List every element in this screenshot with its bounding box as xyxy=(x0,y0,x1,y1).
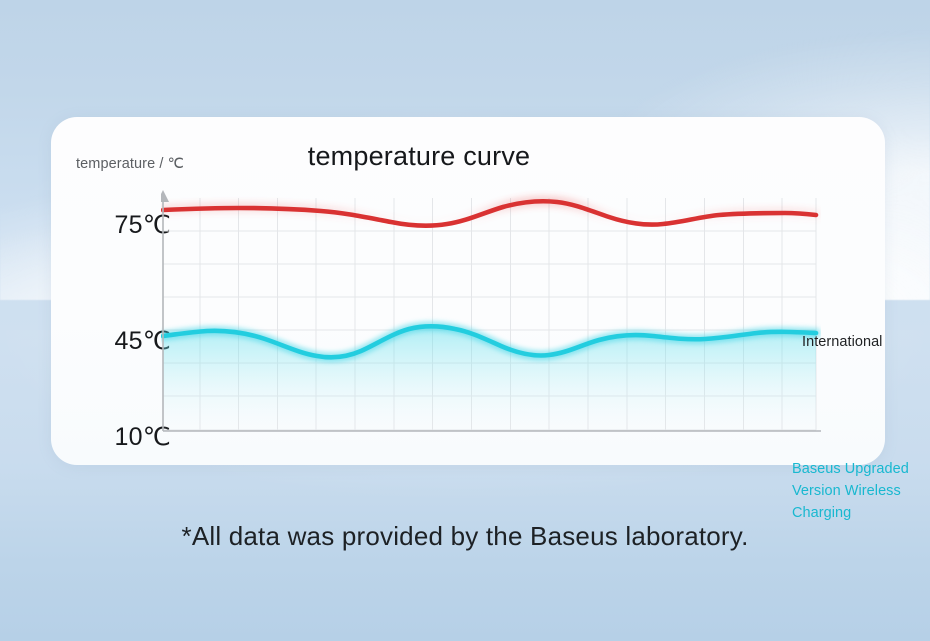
legend-label-international: International xyxy=(802,332,882,354)
footer-caption: *All data was provided by the Baseus lab… xyxy=(0,521,930,552)
chart-title: temperature curve xyxy=(51,141,885,172)
chart-plot-area xyxy=(161,190,821,455)
y-tick-label-75: 75℃ xyxy=(71,210,171,240)
chart-title-text: temperature curve xyxy=(308,141,531,172)
y-axis-tick-labels: 75℃ 45℃ 10℃ xyxy=(61,117,171,465)
page-root: temperature / ℃ temperature curve 75℃ 45… xyxy=(0,0,930,641)
y-tick-label-10: 10℃ xyxy=(71,422,171,452)
chart-card: temperature / ℃ temperature curve 75℃ 45… xyxy=(51,117,885,465)
legend-label-baseus: Baseus Upgraded Version Wireless Chargin… xyxy=(792,459,930,524)
y-tick-label-45: 45℃ xyxy=(71,326,171,356)
